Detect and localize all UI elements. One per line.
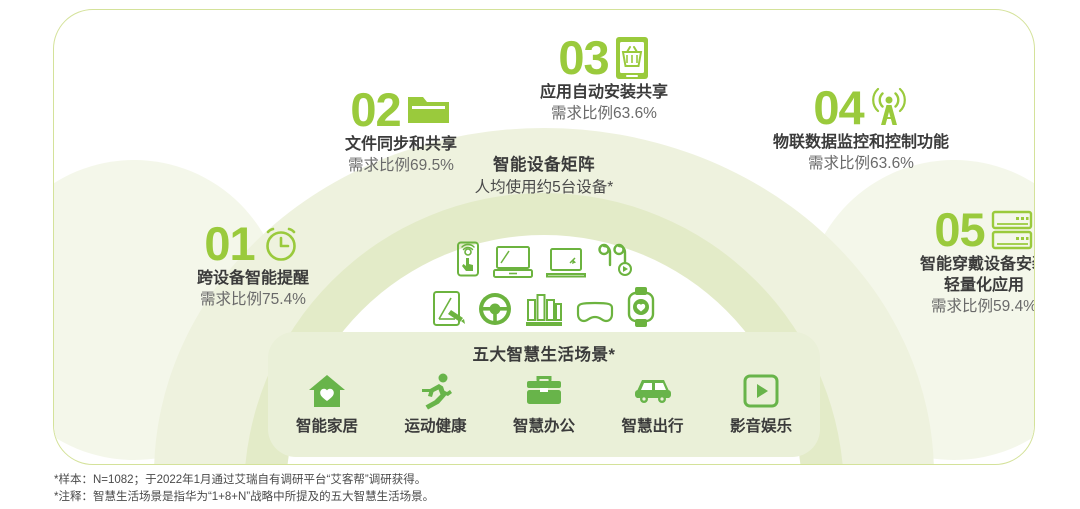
feature-head-04: 04 [726,84,996,131]
feature-number-04: 04 [813,84,863,131]
briefcase-icon-wrap [496,372,592,410]
scene-item-smart-office: 智慧办公 [496,372,592,436]
scene-label-entertainment: 影音娱乐 [713,414,809,436]
feature-title-01: 跨设备智能提醒 [138,268,368,289]
footnotes: *样本：N=1082；于2022年1月通过艾瑞自有调研平台“艾客帮”调研获得。 … [54,472,434,506]
scene-item-smart-home: 智能家居 [279,372,375,436]
feature-number-01: 01 [204,220,254,267]
feature-rate-02: 需求比例69.5% [286,155,516,176]
steering-wheel-icon [476,290,514,328]
scene-label-smart-home: 智能家居 [279,414,375,436]
device-matrix-subtitle: 人均使用约5台设备* [374,176,714,199]
infographic-root: 智能设备矩阵 人均使用约5台设备* [0,0,1080,509]
device-row-1 [414,241,674,279]
scene-item-entertainment: 影音娱乐 [713,372,809,436]
feature-item-01: 01 跨设备智能提醒 需求比例75.4% [138,220,368,310]
feature-title-05: 智能穿戴设备安装 [854,254,1035,275]
feature-number-03: 03 [558,34,608,81]
runner-icon-wrap [388,372,484,410]
server-rack-icon [990,209,1034,251]
scenes-title: 五大智慧生活场景* [473,341,616,365]
feature-title-04: 物联数据监控和控制功能 [726,132,996,153]
home-heart-icon-wrap [279,372,375,410]
feature-rate-01: 需求比例75.4% [138,289,368,310]
device-icon-matrix [414,241,674,335]
scene-item-smart-travel: 智慧出行 [605,372,701,436]
runner-icon [417,372,455,410]
television-icon [492,245,534,279]
infographic-card: 智能设备矩阵 人均使用约5台设备* [53,9,1035,465]
feature-head-01: 01 [138,220,368,267]
feature-title-02: 文件同步和共享 [286,134,516,155]
feature-head-03: 03 [479,34,729,81]
feature-title-03: 应用自动安装共享 [479,82,729,103]
smartphone-touch-icon [455,241,481,279]
tablet-stylus-icon [432,290,466,328]
earbuds-icon [598,243,634,279]
feature-item-05: 05 智能穿戴设备安装 轻量化应用 需求比例59.4% [854,206,1035,317]
scene-label-smart-office: 智慧办公 [496,414,592,436]
app-store-basket-icon [614,35,650,81]
laptop-icon [545,247,587,279]
car-icon-wrap [605,372,701,410]
folder-icon [406,91,452,129]
car-icon [631,376,675,406]
smartwatch-icon [626,286,656,328]
alarm-clock-icon [260,223,302,265]
feature-rate-03: 需求比例63.6% [479,103,729,124]
feature-title-05-line2: 轻量化应用 [854,275,1035,296]
footnote-sample: *样本：N=1082；于2022年1月通过艾瑞自有调研平台“艾客帮”调研获得。 [54,472,434,489]
feature-rate-04: 需求比例63.6% [726,153,996,174]
home-heart-icon [307,373,347,409]
feature-number-05: 05 [934,206,984,253]
feature-rate-05: 需求比例59.4% [854,296,1035,317]
vr-glasses-icon [574,298,616,328]
scene-label-sports-health: 运动健康 [388,414,484,436]
speakers-icon [524,292,564,328]
footnote-note: *注释：智慧生活场景是指华为“1+8+N”战略中所提及的五大智慧生活场景。 [54,489,434,506]
signal-tower-icon [869,87,909,129]
scene-label-smart-travel: 智慧出行 [605,414,701,436]
scene-item-sports-health: 运动健康 [388,372,484,436]
briefcase-icon [525,374,563,408]
feature-head-05: 05 [854,206,1035,253]
scenes-list: 智能家居 运动健康 [279,372,809,436]
device-row-2 [414,286,674,328]
feature-number-02: 02 [350,86,400,133]
feature-item-03: 03 应用自动安装共享 需求比例63.6% [479,34,729,124]
feature-item-04: 04 物联数据监控和控制功能 需求比例63.6% [726,84,996,174]
play-button-icon [743,374,779,408]
play-button-icon-wrap [713,372,809,410]
